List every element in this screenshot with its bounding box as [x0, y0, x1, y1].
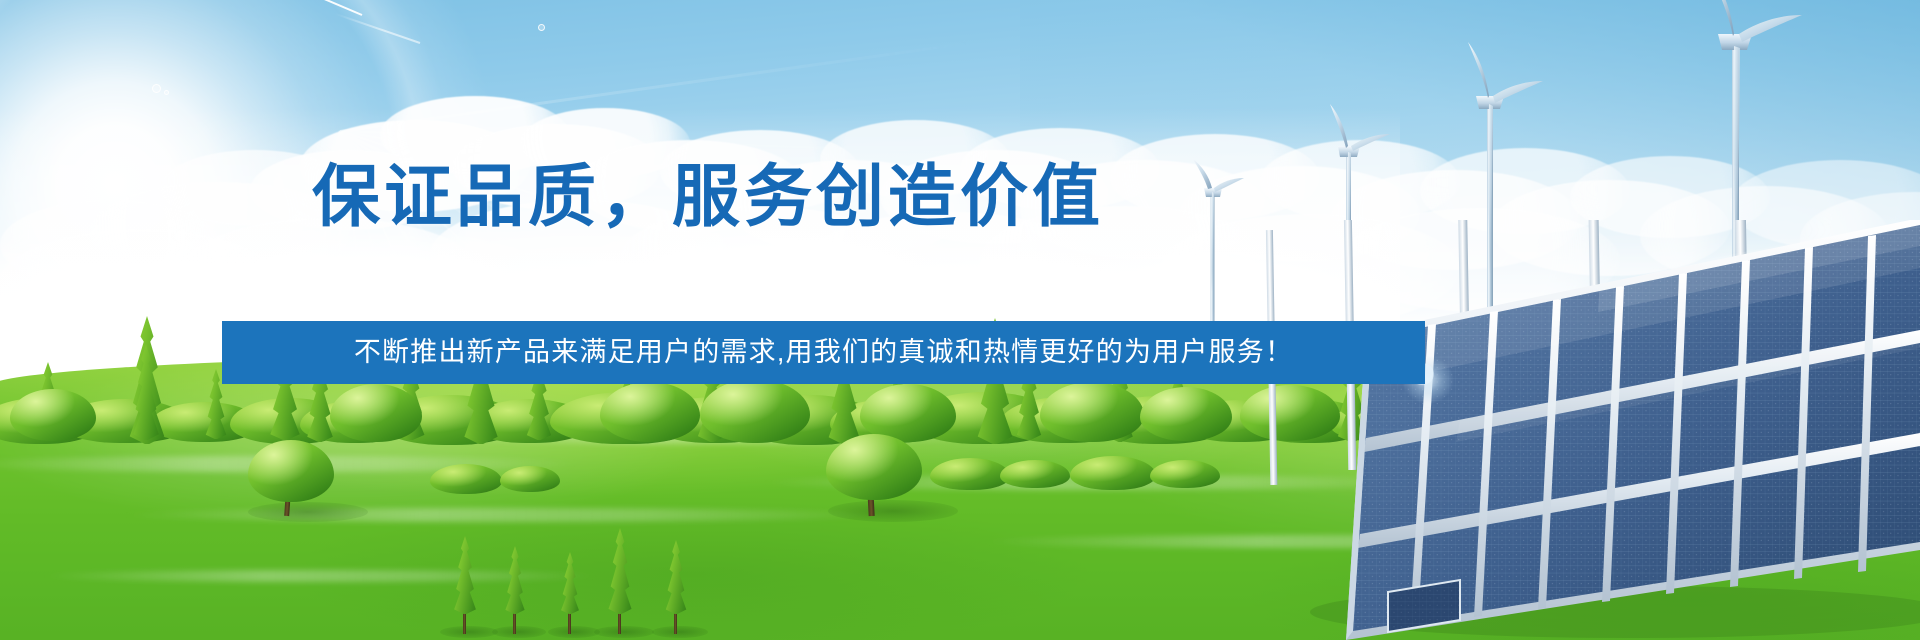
sapling-shadow [652, 626, 708, 638]
field-bush [1000, 460, 1070, 488]
foreground-tree-crown [248, 440, 334, 502]
sapling-shadow [492, 626, 546, 638]
sapling-tree [556, 552, 584, 614]
field-bush [1070, 456, 1156, 490]
field-bush [500, 466, 560, 492]
tree-shadow [248, 502, 368, 522]
sapling-shadow [548, 626, 600, 638]
tree-shadow [828, 500, 958, 522]
sapling-tree [660, 540, 692, 614]
treeline-crown [330, 384, 422, 442]
subtitle-bar: 不断推出新产品来满足用户的需求,用我们的真诚和热情更好的为用户服务！ [222, 321, 1425, 384]
sapling-shadow [440, 626, 498, 638]
field-bush [930, 458, 1010, 490]
field-bush [430, 464, 502, 494]
sapling-tree [500, 546, 530, 614]
treeline-crown [10, 389, 96, 441]
sapling-shadow [594, 626, 654, 638]
treeline-crown [600, 382, 700, 442]
treeline-crown [1040, 382, 1144, 442]
page-title: 保证品质，服务创造价值 [312, 163, 1104, 231]
subtitle-text: 不断推出新产品来满足用户的需求,用我们的真诚和热情更好的为用户服务！ [354, 339, 1293, 366]
treeline-crown [700, 379, 810, 443]
hero-banner: 保证品质，服务创造价值 不断推出新产品来满足用户的需求,用我们的真诚和热情更好的… [0, 0, 1920, 640]
foreground-tree-crown [826, 434, 922, 500]
sapling-tree [448, 536, 482, 614]
solar-panel-array [1160, 220, 1920, 640]
sapling-tree [602, 528, 638, 614]
solar-panel-slab [1346, 220, 1920, 640]
